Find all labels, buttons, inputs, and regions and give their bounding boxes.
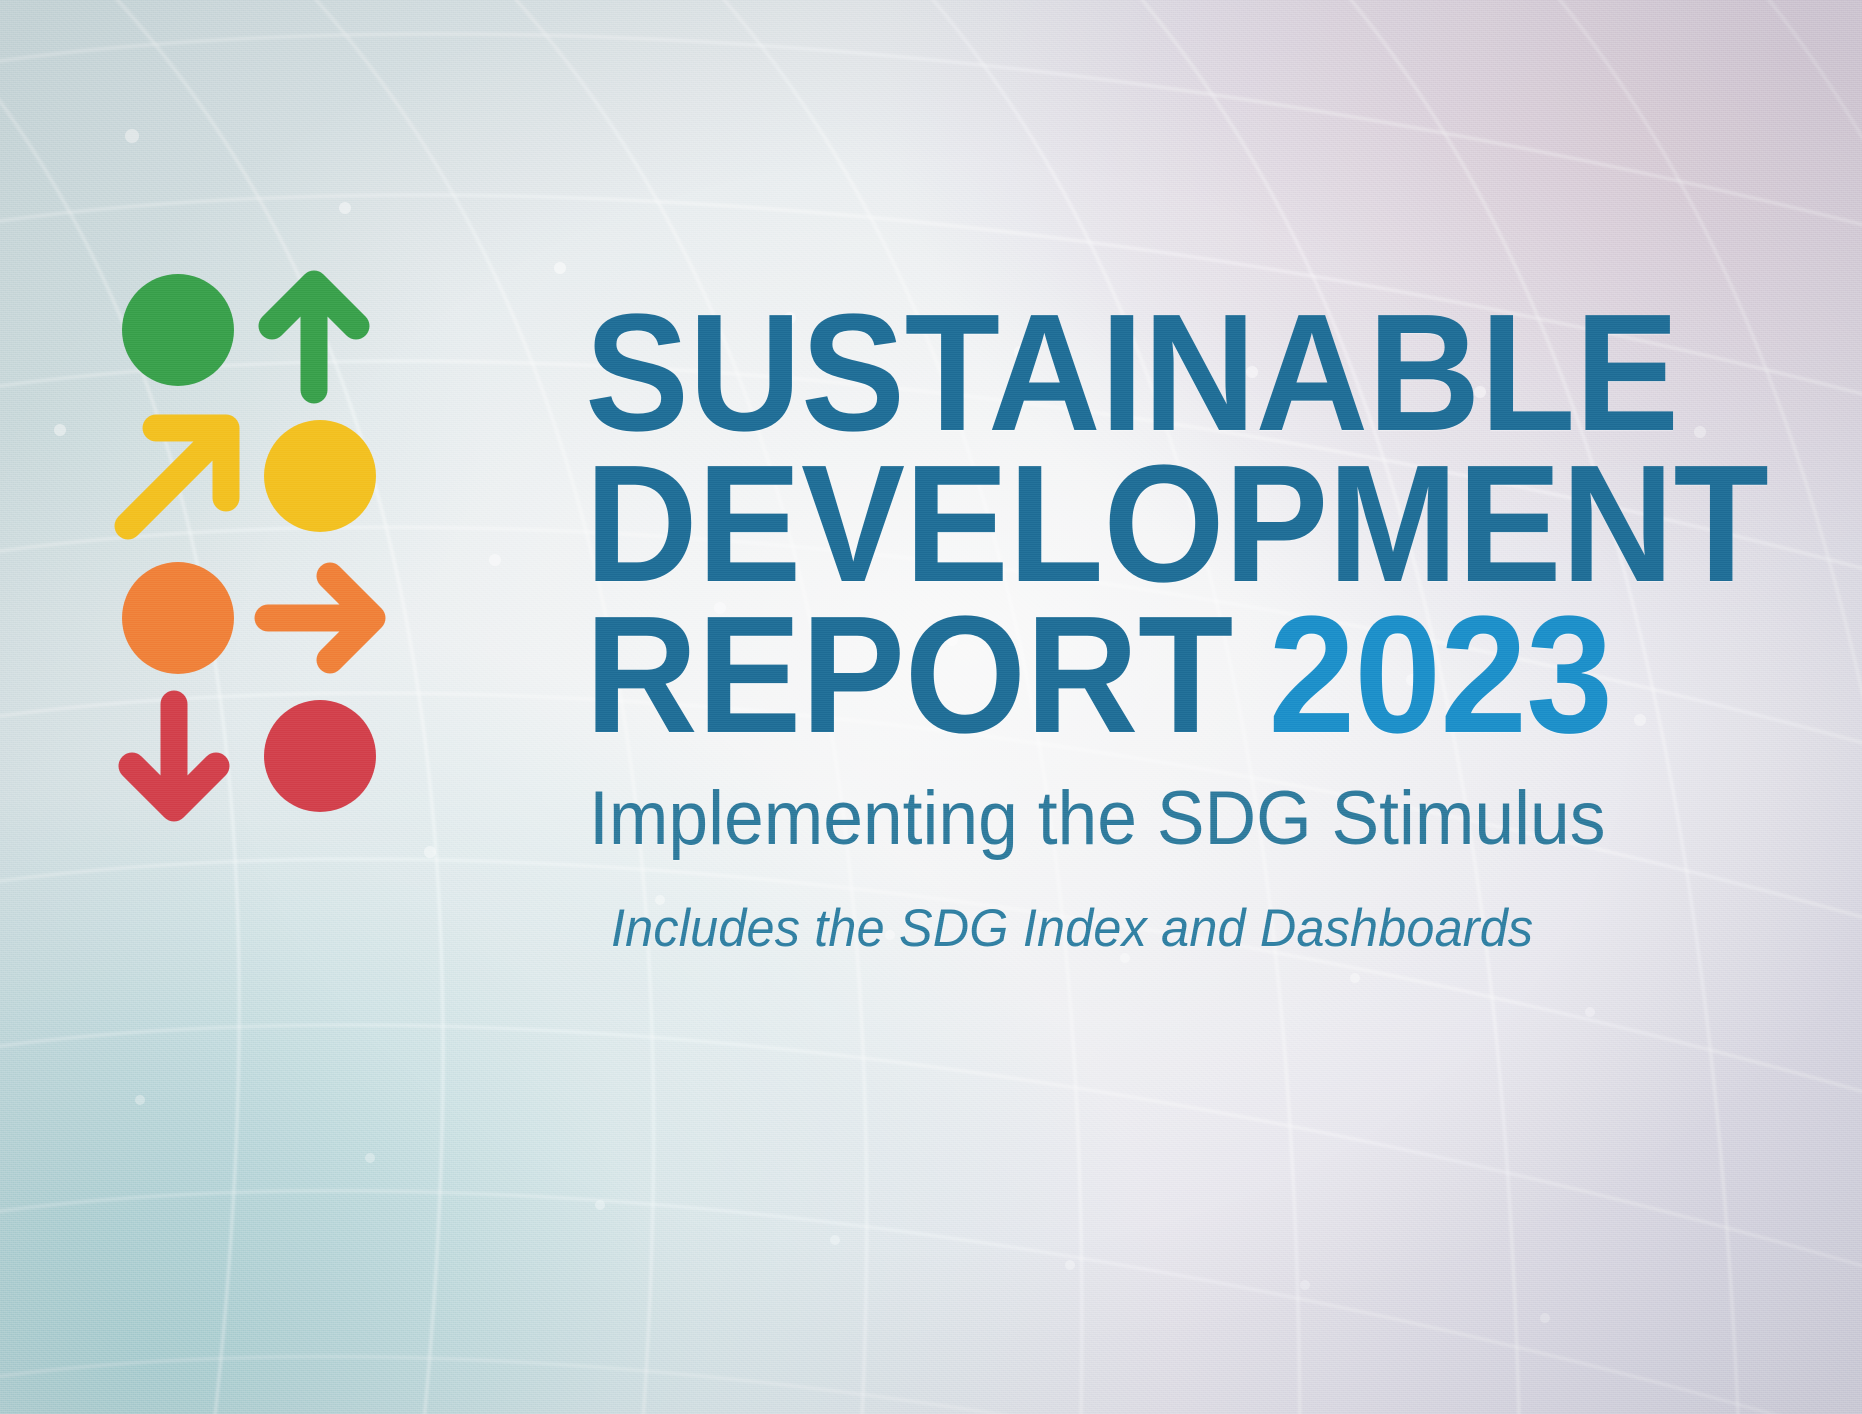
orange-circle-icon xyxy=(112,548,252,688)
cover-title-block: SUSTAINABLE DEVELOPMENT REPORT 2023 Impl… xyxy=(585,300,1765,959)
green-arrow-up-icon xyxy=(252,268,392,408)
yellow-circle-icon xyxy=(252,408,392,548)
title-year: 2023 xyxy=(1268,602,1612,749)
cover-subtitle: Implementing the SDG Stimulus xyxy=(589,775,1694,862)
title-line-report-year-row: REPORT 2023 xyxy=(585,602,1688,749)
title-line-report: REPORT xyxy=(585,602,1233,749)
title-line-development: DEVELOPMENT xyxy=(585,451,1688,598)
yellow-arrow-upright-icon xyxy=(112,408,252,548)
report-cover: SUSTAINABLE DEVELOPMENT REPORT 2023 Impl… xyxy=(0,0,1862,1414)
red-arrow-down-icon xyxy=(112,688,252,828)
red-circle-icon xyxy=(252,688,392,828)
sdg-indicator-icon-grid xyxy=(112,268,392,828)
title-line-sustainable: SUSTAINABLE xyxy=(585,300,1688,447)
orange-arrow-right-icon xyxy=(252,548,392,688)
green-circle-icon xyxy=(112,268,252,408)
cover-strapline: Includes the SDG Index and Dashboards xyxy=(611,898,1707,959)
